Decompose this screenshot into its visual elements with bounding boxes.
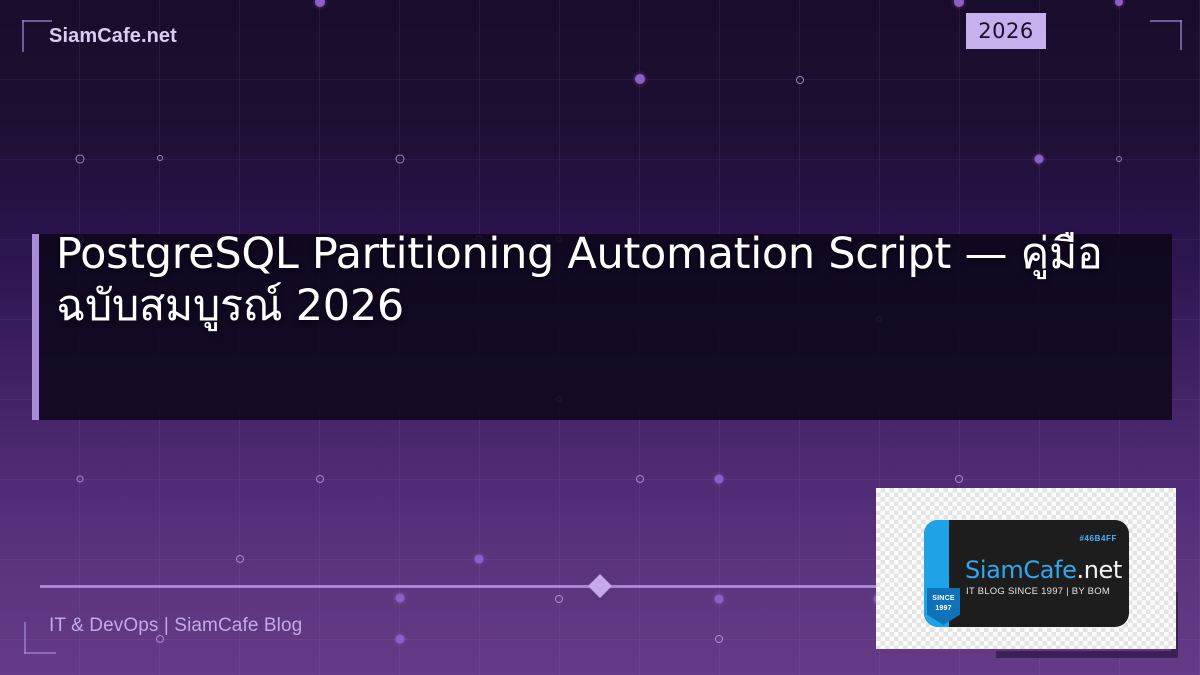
decor-dot	[475, 555, 484, 564]
corner-bracket-top-right	[1150, 20, 1182, 50]
page-title: PostgreSQL Partitioning Automation Scrip…	[56, 228, 1146, 426]
logo-wordmark: SiamCafe.net	[965, 556, 1122, 584]
decor-dot	[316, 475, 324, 483]
decor-dot	[396, 594, 405, 603]
decor-dot	[636, 475, 644, 483]
decor-dot	[157, 155, 163, 161]
decor-dot	[77, 476, 84, 483]
logo-tagline: IT BLOG SINCE 1997 | BY BOM	[966, 586, 1110, 597]
ribbon-line-2: 1997	[927, 604, 960, 614]
divider-diamond-marker	[588, 574, 612, 598]
logo-wordmark-suffix: .net	[1076, 556, 1121, 584]
decor-dot	[1116, 156, 1122, 162]
decor-dot	[715, 635, 723, 643]
footer-category-label: IT & DevOps | SiamCafe Blog	[49, 615, 302, 637]
brand-name: SiamCafe.net	[49, 25, 177, 48]
decor-dot	[796, 76, 804, 84]
corner-bracket-top-left	[22, 20, 52, 52]
decor-dot	[955, 475, 963, 483]
decor-dot	[954, 0, 964, 7]
decor-dot	[76, 155, 85, 164]
title-accent-bar	[32, 234, 39, 420]
decor-dot	[715, 595, 724, 604]
decor-dot	[555, 595, 563, 603]
logo-wordmark-primary: SiamCafe	[965, 556, 1076, 584]
year-badge: 2026	[966, 13, 1046, 49]
decor-dot	[396, 635, 405, 644]
logo-badge: SINCE 1997 #46B4FF SiamCafe.net IT BLOG …	[924, 520, 1129, 627]
decor-dot	[396, 155, 405, 164]
decor-dot	[1115, 0, 1123, 6]
decor-dot	[715, 475, 724, 484]
ribbon-line-1: SINCE	[927, 594, 960, 604]
decor-dot	[1035, 155, 1044, 164]
year-badge-label: 2026	[978, 19, 1033, 43]
cover-canvas: SiamCafe.net 2026 PostgreSQL Partitionin…	[0, 0, 1200, 675]
decor-dot	[236, 555, 244, 563]
title-band: PostgreSQL Partitioning Automation Scrip…	[32, 234, 1172, 420]
logo-card: SINCE 1997 #46B4FF SiamCafe.net IT BLOG …	[876, 488, 1176, 649]
decor-dot	[315, 0, 325, 7]
decor-dot	[635, 74, 645, 84]
logo-hex-code: #46B4FF	[1079, 534, 1117, 543]
